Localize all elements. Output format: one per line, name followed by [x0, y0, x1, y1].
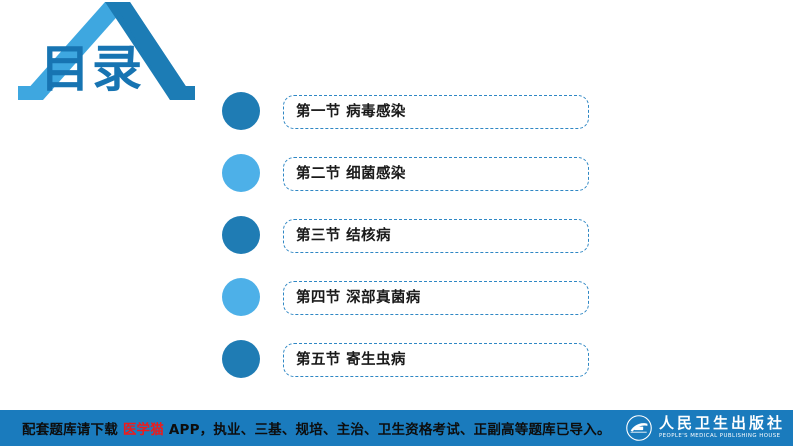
toc-item-label: 第二节 细菌感染 — [296, 158, 406, 192]
bullet-circle-icon — [222, 92, 260, 130]
publisher-logo: 人民卫生出版社 PEOPLE'S MEDICAL PUBLISHING HOUS… — [625, 413, 785, 443]
footer-text-before: 配套题库请下载 — [22, 422, 123, 438]
publisher-names: 人民卫生出版社 PEOPLE'S MEDICAL PUBLISHING HOUS… — [659, 416, 785, 439]
footer-promo-text: 配套题库请下载 医学猫 APP，执业、三基、规培、主治、卫生资格考试、正副高等题… — [22, 418, 611, 438]
toc-item-label: 第四节 深部真菌病 — [296, 282, 421, 316]
publisher-emblem-icon — [625, 414, 653, 442]
list-item[interactable]: 第五节 寄生虫病 — [222, 336, 622, 398]
toc-item-box[interactable]: 第四节 深部真菌病 — [283, 281, 589, 315]
toc-item-label: 第五节 寄生虫病 — [296, 344, 406, 378]
toc-item-box[interactable]: 第三节 结核病 — [283, 219, 589, 253]
footer-app-name: 医学猫 — [123, 422, 164, 438]
bullet-circle-icon — [222, 154, 260, 192]
list-item[interactable]: 第一节 病毒感染 — [222, 88, 622, 150]
toc-item-label: 第三节 结核病 — [296, 220, 391, 254]
list-item[interactable]: 第二节 细菌感染 — [222, 150, 622, 212]
list-item[interactable]: 第四节 深部真菌病 — [222, 274, 622, 336]
publisher-name-cn: 人民卫生出版社 — [659, 416, 785, 431]
slide-canvas: 目录 第一节 病毒感染 第二节 细菌感染 第三节 结核病 第四节 深部真菌病 — [0, 0, 793, 446]
toc-item-label: 第一节 病毒感染 — [296, 96, 406, 130]
toc-item-box[interactable]: 第二节 细菌感染 — [283, 157, 589, 191]
page-title: 目录 — [40, 44, 144, 94]
toc-item-box[interactable]: 第五节 寄生虫病 — [283, 343, 589, 377]
bullet-circle-icon — [222, 340, 260, 378]
toc-item-box[interactable]: 第一节 病毒感染 — [283, 95, 589, 129]
publisher-name-en: PEOPLE'S MEDICAL PUBLISHING HOUSE — [659, 434, 785, 439]
list-item[interactable]: 第三节 结核病 — [222, 212, 622, 274]
footer-text-after: APP，执业、三基、规培、主治、卫生资格考试、正副高等题库已导入。 — [164, 422, 611, 438]
title-logo-block: 目录 — [10, 0, 220, 112]
footer-bar: 配套题库请下载 医学猫 APP，执业、三基、规培、主治、卫生资格考试、正副高等题… — [0, 410, 793, 446]
bullet-circle-icon — [222, 216, 260, 254]
bullet-circle-icon — [222, 278, 260, 316]
toc-list: 第一节 病毒感染 第二节 细菌感染 第三节 结核病 第四节 深部真菌病 — [222, 88, 622, 398]
